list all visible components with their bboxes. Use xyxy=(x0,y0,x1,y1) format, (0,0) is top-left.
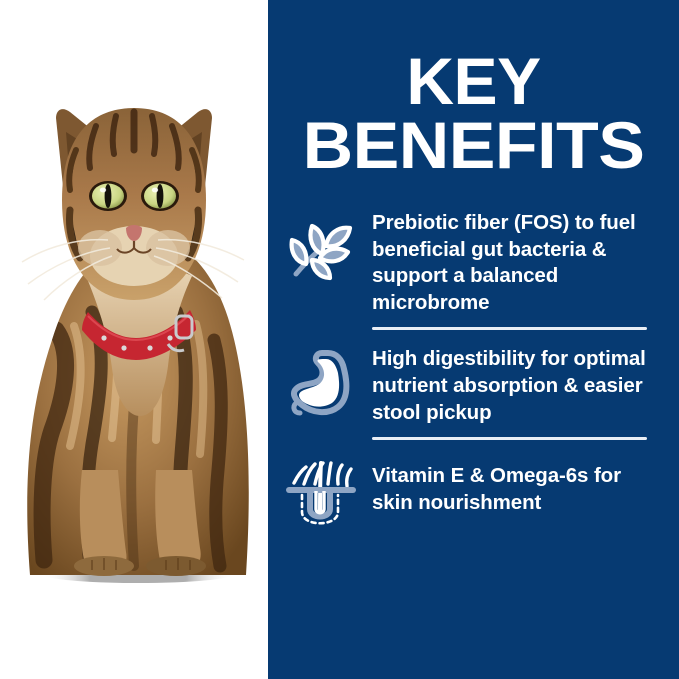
benefit-text: High digestibility for optimal nutrient … xyxy=(372,343,661,426)
benefit-text: Vitamin E & Omega-6s for skin nourishmen… xyxy=(372,453,661,516)
wheat-sprig-icon xyxy=(282,208,360,286)
benefit-item-prebiotic-fiber: Prebiotic fiber (FOS) to fuel beneficial… xyxy=(282,204,661,318)
divider-2 xyxy=(372,437,647,440)
stomach-icon xyxy=(282,343,360,421)
key-benefits-graphic: KEY BENEFITS xyxy=(0,0,679,679)
benefits-list: Prebiotic fiber (FOS) to fuel beneficial… xyxy=(268,204,679,533)
benefit-item-high-digestibility: High digestibility for optimal nutrient … xyxy=(282,339,661,428)
divider-1 xyxy=(372,327,647,330)
page-title-line-2: BENEFITS xyxy=(268,114,679,176)
page-title-line-1: KEY xyxy=(274,50,673,112)
benefits-panel: KEY BENEFITS xyxy=(268,0,679,679)
page-title: KEY BENEFITS xyxy=(268,50,679,176)
cat-photo-panel xyxy=(0,0,268,679)
hair-follicle-icon xyxy=(282,453,360,531)
benefit-item-skin-nourishment: Vitamin E & Omega-6s for skin nourishmen… xyxy=(282,449,661,533)
benefit-text: Prebiotic fiber (FOS) to fuel beneficial… xyxy=(372,208,661,316)
cat-photograph xyxy=(0,0,268,679)
